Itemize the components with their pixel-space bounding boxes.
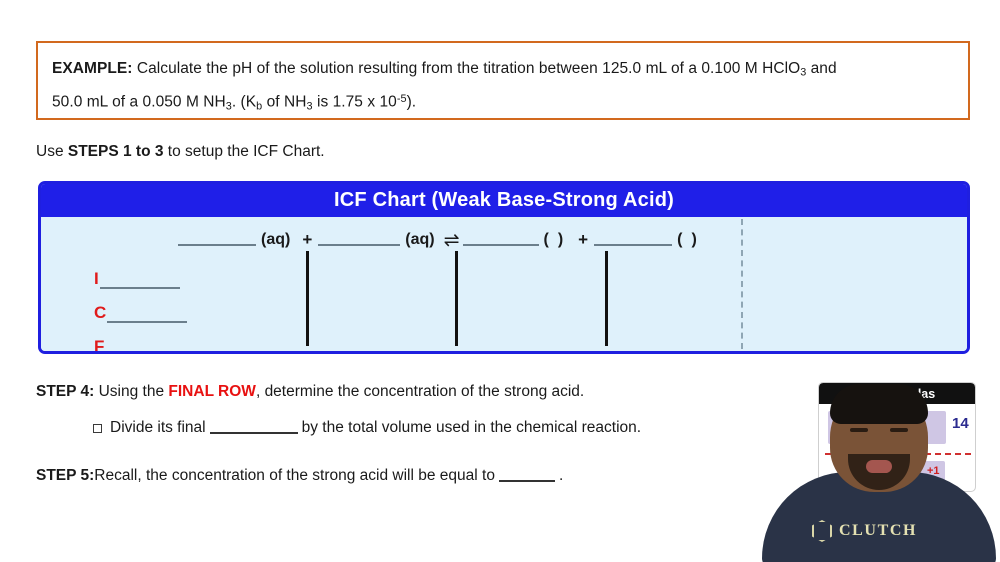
product2-phase-parens: () xyxy=(677,231,706,249)
step-4-sub-instruction: Divide its final by the total volume use… xyxy=(93,419,641,437)
product1-blank[interactable] xyxy=(463,234,539,246)
reactant2-phase: (aq) xyxy=(405,231,434,249)
example-problem-box: EXAMPLE: Calculate the pH of the solutio… xyxy=(36,41,970,120)
icf-row-change-label: C xyxy=(94,303,106,323)
step-5-instruction: STEP 5: Recall, the concentration of the… xyxy=(36,467,563,485)
example-line2-text-b: . (K xyxy=(232,93,256,110)
icf-row-change-blank[interactable] xyxy=(107,311,187,323)
step-4-highlight: FINAL ROW xyxy=(168,383,256,400)
product2-blank[interactable] xyxy=(594,234,672,246)
use-steps-instruction: Use STEPS 1 to 3 to setup the ICF Chart. xyxy=(36,143,325,161)
icf-chart-body: (aq) + (aq) ⇌ () + () I C F xyxy=(41,217,967,351)
step-5-fill-blank[interactable] xyxy=(499,471,555,482)
icf-row-final: F xyxy=(94,337,185,354)
example-line1-tail: and xyxy=(806,60,836,77)
step-5-text-before: Recall, the concentration of the strong … xyxy=(94,467,495,485)
step-5-text-after: . xyxy=(559,467,563,485)
example-line2-text-c: of NH xyxy=(262,93,306,110)
presenter-figure: CLUTCH xyxy=(756,380,1000,562)
use-steps-suffix: to setup the ICF Chart. xyxy=(164,143,325,160)
step-4-label: STEP 4: xyxy=(36,383,94,400)
equilibrium-arrow-icon: ⇌ xyxy=(444,229,460,252)
icf-row-final-blank[interactable] xyxy=(105,345,185,354)
use-steps-bold: STEPS 1 to 3 xyxy=(68,143,164,160)
checkbox-icon[interactable] xyxy=(93,424,102,433)
presenter-video-overlay[interactable]: pH Formulas 14 +1 CLUTCH xyxy=(756,380,1000,562)
step-4-instruction: STEP 4: Using the FINAL ROW, determine t… xyxy=(36,383,584,401)
icf-row-final-label: F xyxy=(94,337,104,354)
step-4-text-after: , determine the concentration of the str… xyxy=(256,383,584,400)
icf-row-initial-label: I xyxy=(94,269,99,289)
example-line-2: 50.0 mL of a 0.050 M NH3. (Kb of NH3 is … xyxy=(52,86,954,119)
step-5-label: STEP 5: xyxy=(36,467,94,485)
hexagon-icon xyxy=(812,520,832,542)
reactant2-blank[interactable] xyxy=(318,234,400,246)
clutch-brand-text: CLUTCH xyxy=(839,522,917,540)
step-4-text-before: Using the xyxy=(94,383,168,400)
clutch-logo: CLUTCH xyxy=(812,520,917,542)
icf-row-change: C xyxy=(94,303,187,323)
example-line2-text-d: is 1.75 x 10 xyxy=(313,93,397,110)
presenter-mouth xyxy=(866,460,892,473)
use-steps-prefix: Use xyxy=(36,143,68,160)
column-divider-3 xyxy=(605,251,608,346)
example-line2-text-a: 50.0 mL of a 0.050 M NH xyxy=(52,93,226,110)
presenter-eye-left xyxy=(850,428,868,432)
reactant1-blank[interactable] xyxy=(178,234,256,246)
icf-chart: ICF Chart (Weak Base-Strong Acid) (aq) +… xyxy=(38,181,970,354)
presenter-hair xyxy=(830,384,928,424)
step-4-sub-before: Divide its final xyxy=(110,419,206,437)
example-line-1: EXAMPLE: Calculate the pH of the solutio… xyxy=(52,56,954,86)
reactant1-phase: (aq) xyxy=(261,231,290,249)
step-4-sub-after: by the total volume used in the chemical… xyxy=(302,419,641,437)
column-divider-2 xyxy=(455,251,458,346)
chemical-equation-row: (aq) + (aq) ⇌ () + () xyxy=(41,227,967,253)
product1-phase-parens: () xyxy=(544,231,573,249)
icf-row-initial: I xyxy=(94,269,180,289)
icf-row-initial-blank[interactable] xyxy=(100,277,180,289)
equation-plus-2: + xyxy=(578,230,588,250)
step-4-fill-blank[interactable] xyxy=(210,423,298,434)
example-line2-text-e: ). xyxy=(407,93,417,110)
column-divider-dashed xyxy=(741,219,743,349)
exponent-minus-5: -5 xyxy=(397,93,407,105)
presenter-eye-right xyxy=(890,428,908,432)
icf-chart-title: ICF Chart (Weak Base-Strong Acid) xyxy=(41,184,967,217)
example-line1-text: Calculate the pH of the solution resulti… xyxy=(133,60,801,77)
example-label: EXAMPLE: xyxy=(52,60,133,77)
equation-plus-1: + xyxy=(302,230,312,250)
column-divider-1 xyxy=(306,251,309,346)
